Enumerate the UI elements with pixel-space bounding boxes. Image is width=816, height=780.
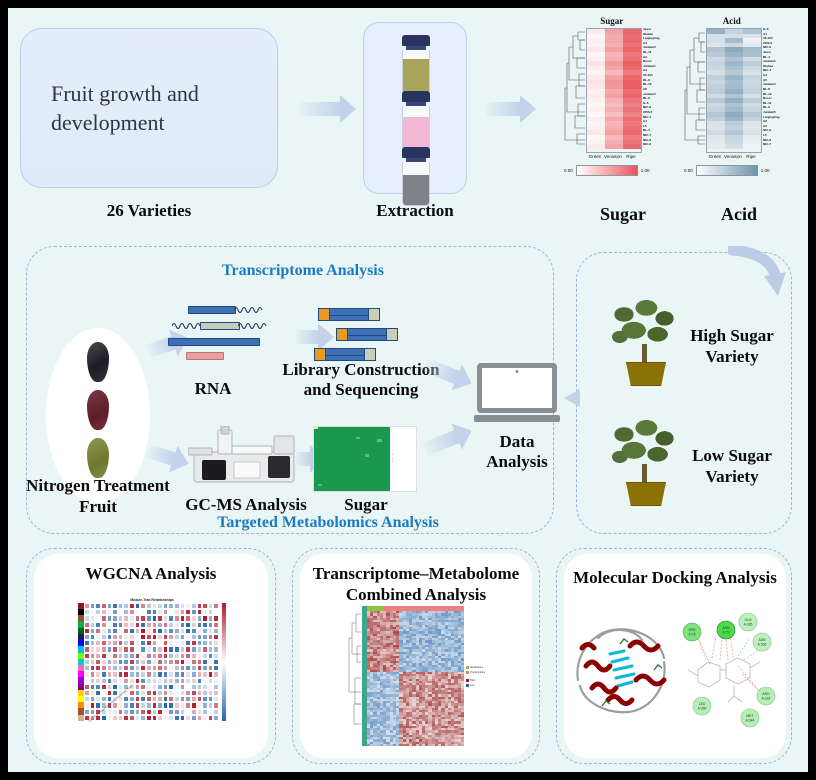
rna-strand-pink [186,352,224,360]
library-fragment-2 [336,328,398,341]
residue-label: MET [746,714,753,718]
residue-label: GLN [745,618,753,622]
heatmap-cell [743,144,761,149]
protein-structure-image [568,618,676,722]
heatmap-col-label: Ripe [622,154,640,159]
rna-strand-blue-1 [188,306,236,314]
ligand-interaction-diagram: SERA:76 ASNA:73 GLNA:335 ASNA:336 ARGA:3… [676,608,780,728]
heatmap-sugar-col-labels: GreenVeraisonRipe [586,154,660,159]
colorbar-max-label: 1.00 [761,168,770,173]
curved-arrow-icon [728,246,788,302]
vial-olive [402,35,430,94]
dendrogram-svg [684,28,706,148]
caption-rna: RNA [168,379,258,399]
vial-body [402,162,430,206]
vial-cap-icon [402,147,430,158]
vial-cap-icon [402,35,430,46]
heatmap-row-label: NIC-7 [763,143,780,148]
caption-varieties: 26 Varieties [20,201,278,221]
heatmap-sugar-grid [586,28,642,153]
title-wgcna-analysis: WGCNA Analysis [34,564,268,585]
rna-strands-illustration [168,304,298,366]
fruit-dark-purple [87,342,109,382]
rna-strand-blue-2 [168,338,260,346]
dendrogram-sugar [564,28,586,153]
heatmap-col-label: Green [586,154,604,159]
caption-library-construction: Library Construction and Sequencing [273,360,449,401]
combined-row-dendrogram [348,606,362,746]
arrow-heatmaps-to-outcome [728,246,788,302]
mini-heatmap-legend-line: ▪ [392,461,416,464]
svg-text:A:335: A:335 [744,623,753,627]
heatmap-row [707,144,761,149]
dendrogram-svg [564,28,586,148]
wgcna-cell [213,715,219,721]
heatmap-cell [725,144,743,149]
combined-legend: Metabolome Transcriptome High Low [464,606,488,746]
caption-extraction: Extraction [348,201,482,221]
header-targeted-metabolomics: Targeted Metabolomics Analysis [193,514,463,532]
data-analysis-laptop-icon [474,363,560,425]
caption-data-analysis: Data Analysis [470,432,564,473]
caption-nitrogen-treatment-fruit: Nitrogen Treatment Fruit [22,476,174,517]
residue-label: ASN [723,626,731,630]
caption-gcms-analysis: GC-MS Analysis [176,495,316,515]
residue-label: ASN [759,638,767,642]
heatmap-sugar: Sugar JessiWuheeLanj [564,16,660,176]
rna-squiggle-3 [238,321,268,331]
svg-text:A:73: A:73 [723,631,730,635]
title-molecular-docking: Molecular Docking Analysis [564,568,786,589]
arrow-varieties-to-extraction [300,102,340,116]
vial-cap-icon [402,91,430,102]
arrow-outcome-to-data [564,389,580,407]
colorbar-min-label: 0.00 [684,168,693,173]
rna-squiggle-1 [234,305,264,315]
wgcna-chart: Module-Trait Relationships Trait1 Trait2… [78,598,226,738]
residue-label: SER [689,628,697,632]
fruit-growth-label: Fruit growth and development [51,79,256,137]
heatmap-cell [707,144,725,149]
gc-ms-instrument-image [188,426,306,488]
heatmap-col-label: Veraison [724,154,742,159]
vial-body [402,106,430,150]
svg-text:A:344: A:344 [746,719,755,723]
arrow-gcms-to-sugar [296,452,310,466]
vial-gray [402,147,430,206]
caption-acid: Acid [694,204,784,225]
label-low-sugar-variety: Low Sugar Variety [684,446,780,487]
heatmap-row-label: NIC-8 [643,143,660,148]
tree-high-sugar [606,296,684,388]
heatmap-col-label: Green [706,154,724,159]
heatmap-cell [587,144,605,149]
mini-heatmap-legend-line: ▪ [392,454,416,457]
heatmap-cell [605,144,623,149]
heatmap-row [587,144,641,149]
heatmap-acid-title: Acid [684,16,780,26]
caption-sugar: Sugar [568,204,678,225]
ligand-interaction-icon: SERA:76 ASNA:73 GLNA:335 ASNA:336 ARGA:3… [676,608,780,728]
heatmap-sugar-title: Sugar [564,16,660,26]
heatmap-acid-col-labels: GreenVeraisonRipe [706,154,780,159]
fruit-dark-red [87,390,109,430]
arrow-rna-to-library [296,330,318,344]
plant-pot-icon [626,362,666,386]
title-combined-analysis: Transcriptome–Metabolome Combined Analys… [304,564,528,605]
row-experiment-overview: Fruit growth and development 26 Varietie… [8,8,808,230]
dendrogram-acid [684,28,706,153]
svg-text:A:76: A:76 [689,633,696,637]
heatmap-col-label: Veraison [604,154,622,159]
wgcna-plot-title: Module-Trait Relationships [78,598,226,602]
heatmap-acid: Acid IL-5A105-104CBS [684,16,780,176]
protein-ribbon-icon [568,618,676,722]
arrow-extraction-to-heatmaps [486,102,520,116]
heatmap-acid-row-labels: IL-5A105-104CBS-5NIC-6JessiBL-4Juntian1W… [763,28,780,153]
residue-label: ARG [762,692,770,696]
fruit-growth-box: Fruit growth and development [20,28,278,188]
mini-heatmap-legend-line: ▪ [392,458,416,461]
heatmap-sugar-row-labels: JessiWuheeLanjinglingA4Juntian5BL-11A2Bo… [643,28,660,153]
combined-heatmap-chart: Metabolome Transcriptome High Low [348,606,488,746]
gcms-icon [188,426,306,488]
residue-label: LEU [699,702,706,706]
tree-low-sugar [606,416,684,508]
heatmap-acid-colorbar: 0.00 1.00 [684,165,780,176]
heatmap-cell [623,144,641,149]
svg-text:A:332: A:332 [762,697,771,701]
colorbar-max-label: 1.00 [641,168,650,173]
caption-sugar-metabolite: Sugar [318,495,414,515]
rna-squiggle-2 [172,321,200,331]
sugar-metabolite-heatmap: ▪ ▪ ▪ [313,426,417,492]
svg-text:A:336: A:336 [758,643,767,647]
svg-text:A:330: A:330 [698,707,707,711]
header-transcriptome-analysis: Transcriptome Analysis [188,262,418,280]
heatmap-sugar-colorbar: 0.00 1.00 [564,165,660,176]
plant-pot-icon [626,482,666,506]
vial-pink [402,91,430,150]
library-fragment-1 [318,308,380,321]
extraction-box [363,22,467,194]
vial-body [402,50,430,94]
label-high-sugar-variety: High Sugar Variety [684,326,780,367]
figure-canvas: Fruit growth and development 26 Varietie… [8,8,808,772]
heatmap-acid-grid [706,28,762,153]
rna-strand-olive [200,322,240,330]
colorbar-min-label: 0.00 [564,168,573,173]
heatmap-col-label: Ripe [742,154,760,159]
fruit-olive-green [87,438,109,478]
